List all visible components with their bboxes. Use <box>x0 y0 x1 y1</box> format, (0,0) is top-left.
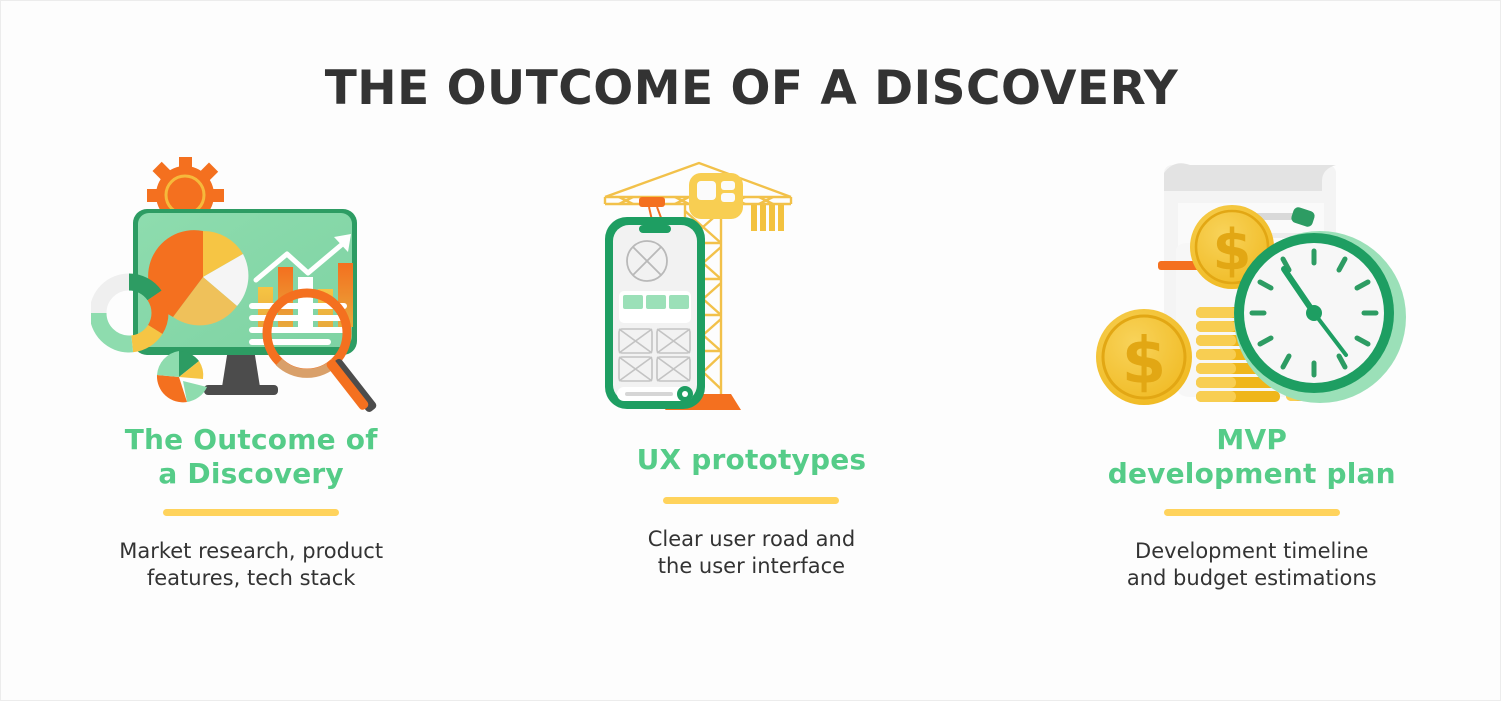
column-heading-line1: UX prototypes <box>637 443 867 477</box>
analytics-monitor-illustration <box>91 151 411 421</box>
crane-counterweight-icon <box>751 205 784 231</box>
wireframe-bottom-bar <box>617 386 693 402</box>
column-body-line2: and budget estimations <box>1127 565 1377 592</box>
column-body: Clear user road and the user interface <box>648 526 855 580</box>
heading-divider <box>163 509 339 516</box>
coin-stack-highlight <box>1196 307 1236 402</box>
column-heading: The Outcome of a Discovery <box>125 423 378 491</box>
crane-smartphone-illustration <box>591 151 911 421</box>
column-body: Development timeline and budget estimati… <box>1127 538 1377 592</box>
column-heading: MVP development plan <box>1108 423 1396 491</box>
dollar-coin-front-icon: $ <box>1096 309 1192 405</box>
column-body-line1: Development timeline <box>1127 538 1377 565</box>
column-heading-line1: MVP <box>1108 423 1396 457</box>
heading-divider <box>663 497 839 504</box>
monitor-stand-icon <box>204 349 278 395</box>
column-heading-line2: development plan <box>1108 457 1396 491</box>
crane-cabin-icon <box>689 173 743 219</box>
column-body-line1: Clear user road and <box>648 526 855 553</box>
column-outcome-of-a-discovery: The Outcome of a Discovery Market resear… <box>1 151 501 592</box>
column-heading: UX prototypes <box>637 443 867 477</box>
column-mvp-development-plan: $ $ <box>1002 151 1501 592</box>
smartphone-icon <box>605 217 705 409</box>
small-pie-chart-icon <box>157 351 207 402</box>
columns-container: The Outcome of a Discovery Market resear… <box>1 151 1501 592</box>
wireframe-card-placeholder <box>619 291 691 323</box>
column-heading-line1: The Outcome of <box>125 423 378 457</box>
column-body: Market research, product features, tech … <box>119 538 383 592</box>
column-heading-line2: a Discovery <box>125 457 378 491</box>
infographic-canvas: THE OUTCOME OF A DISCOVERY <box>0 0 1501 701</box>
svg-text:$: $ <box>1121 325 1166 399</box>
budget-timeline-illustration: $ $ <box>1092 151 1412 421</box>
column-ux-prototypes: UX prototypes Clear user road and the us… <box>501 151 1001 592</box>
heading-divider <box>1164 509 1340 516</box>
column-body-line2: features, tech stack <box>119 565 383 592</box>
page-title: THE OUTCOME OF A DISCOVERY <box>1 63 1501 115</box>
column-body-line2: the user interface <box>648 553 855 580</box>
column-body-line1: Market research, product <box>119 538 383 565</box>
